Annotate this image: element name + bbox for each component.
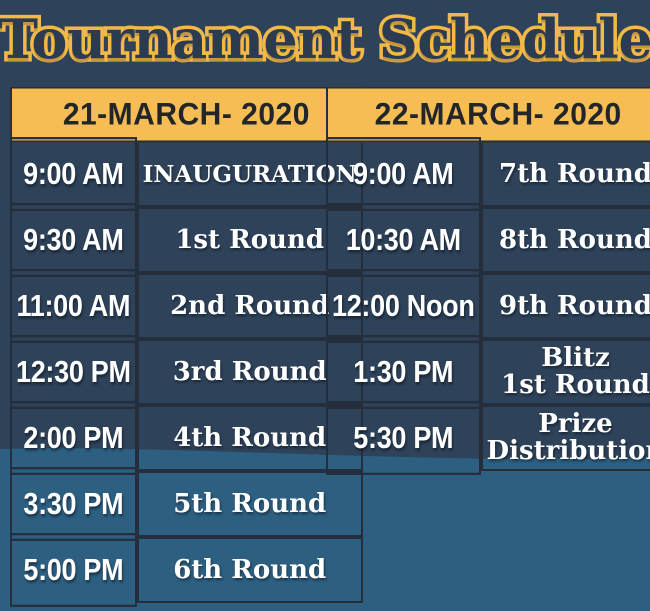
schedule-table-day1: 21-MARCH- 2020 9:00 AM INAUGURATION 9:30… bbox=[10, 88, 363, 603]
table-header-row: 21-MARCH- 2020 bbox=[10, 88, 363, 141]
table-row: 9:00 AM INAUGURATION bbox=[10, 141, 363, 207]
tournament-schedule-poster: Tournament Schedule 21-MARCH- 2020 9:00 … bbox=[0, 0, 650, 611]
table-row: 5:00 PM 6th Round bbox=[10, 537, 363, 603]
table-row: 10:30 AM 8th Round bbox=[326, 207, 650, 273]
cell-time: 12:00 Noon bbox=[326, 269, 481, 343]
table-row: 11:00 AM 2nd Round bbox=[10, 273, 363, 339]
cell-time: 9:30 AM bbox=[10, 203, 137, 277]
table-row: 1:30 PM Blitz 1st Round bbox=[326, 339, 650, 405]
cell-event: 6th Round bbox=[137, 537, 363, 603]
cell-time: 12:30 PM bbox=[10, 335, 137, 409]
cell-time: 11:00 AM bbox=[10, 269, 137, 343]
cell-event: 7th Round bbox=[481, 141, 650, 207]
cell-event: 9th Round bbox=[481, 273, 650, 339]
cell-time: 1:30 PM bbox=[326, 335, 481, 409]
cell-time: 5:30 PM bbox=[326, 401, 481, 475]
table-row: 9:00 AM 7th Round bbox=[326, 141, 650, 207]
table-row: 12:00 Noon 9th Round bbox=[326, 273, 650, 339]
table-header-row: 22-MARCH- 2020 bbox=[326, 88, 650, 141]
cell-time: 9:00 AM bbox=[10, 137, 137, 211]
schedule-table-day2: 22-MARCH- 2020 9:00 AM 7th Round 10:30 A… bbox=[326, 88, 650, 471]
table-body-day2: 9:00 AM 7th Round 10:30 AM 8th Round 12:… bbox=[326, 141, 650, 471]
cell-time: 10:30 AM bbox=[326, 203, 481, 277]
page-title: Tournament Schedule bbox=[0, 11, 650, 67]
page-title-container: Tournament Schedule bbox=[0, 2, 650, 76]
table-row: 2:00 PM 4th Round bbox=[10, 405, 363, 471]
table-row: 9:30 AM 1st Round bbox=[10, 207, 363, 273]
cell-time: 5:00 PM bbox=[10, 533, 137, 607]
cell-time: 3:30 PM bbox=[10, 467, 137, 541]
cell-event: Blitz 1st Round bbox=[481, 339, 650, 405]
table-row: 3:30 PM 5th Round bbox=[10, 471, 363, 537]
date-header-day1: 21-MARCH- 2020 bbox=[10, 86, 363, 142]
date-header-day2: 22-MARCH- 2020 bbox=[326, 86, 650, 142]
cell-time: 9:00 AM bbox=[326, 137, 481, 211]
cell-time: 2:00 PM bbox=[10, 401, 137, 475]
cell-event: 8th Round bbox=[481, 207, 650, 273]
cell-event: Prize Distribution bbox=[481, 405, 650, 471]
table-body-day1: 9:00 AM INAUGURATION 9:30 AM 1st Round 1… bbox=[10, 141, 363, 603]
cell-event: 5th Round bbox=[137, 471, 363, 537]
table-row: 5:30 PM Prize Distribution bbox=[326, 405, 650, 471]
table-row: 12:30 PM 3rd Round bbox=[10, 339, 363, 405]
